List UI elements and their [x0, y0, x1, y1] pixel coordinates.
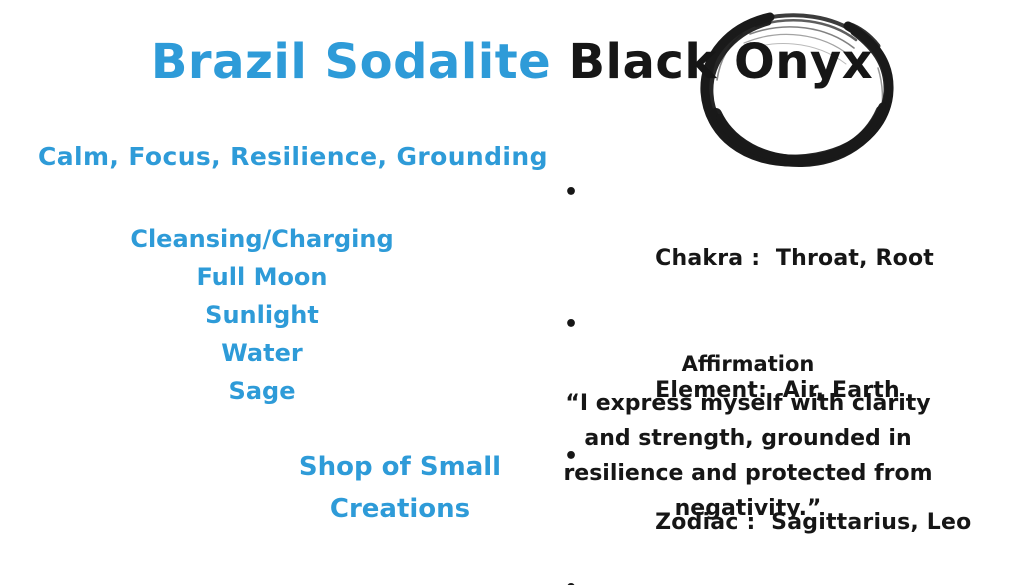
affirmation-line-3: resilience and protected from: [548, 456, 948, 491]
list-item-chakra: • Chakra : Throat, Root: [556, 176, 971, 308]
title-black-text: Black Onyx: [568, 34, 873, 90]
cleansing-method-sunlight: Sunlight: [60, 296, 464, 334]
bullet-icon: •: [564, 572, 578, 585]
page-title: Brazil Sodalite Black Onyx: [0, 34, 1024, 90]
shop-name-line-1: Shop of Small: [190, 446, 610, 488]
bullet-icon: •: [564, 308, 578, 341]
cleansing-method-water: Water: [60, 334, 464, 372]
affirmation-line-2: and strength, grounded in: [548, 421, 948, 456]
affirmation-line-1: “I express myself with clarity: [548, 386, 948, 421]
title-blue-text: Brazil Sodalite: [151, 34, 569, 90]
keywords-line: Calm, Focus, Resilience, Grounding: [38, 142, 548, 171]
cleansing-charging-block: Cleansing/Charging Full Moon Sunlight Wa…: [60, 220, 464, 410]
affirmation-line-4: negativity.”: [548, 491, 948, 526]
shop-name: Shop of Small Creations: [190, 446, 610, 530]
cleansing-method-sage: Sage: [60, 372, 464, 410]
cleansing-method-full-moon: Full Moon: [60, 258, 464, 296]
shop-name-line-2: Creations: [190, 488, 610, 530]
attribute-chakra-text: Chakra : Throat, Root: [655, 246, 934, 271]
bullet-icon: •: [564, 176, 578, 209]
list-item-planet: • Planet : Jupiter, Saturn: [556, 572, 971, 585]
affirmation-heading: Affirmation: [548, 352, 948, 376]
cleansing-heading: Cleansing/Charging: [60, 220, 464, 258]
crystal-info-card: Brazil Sodalite Black Onyx Calm, Focus, …: [0, 0, 1024, 585]
affirmation-body: “I express myself with clarity and stren…: [548, 386, 948, 526]
